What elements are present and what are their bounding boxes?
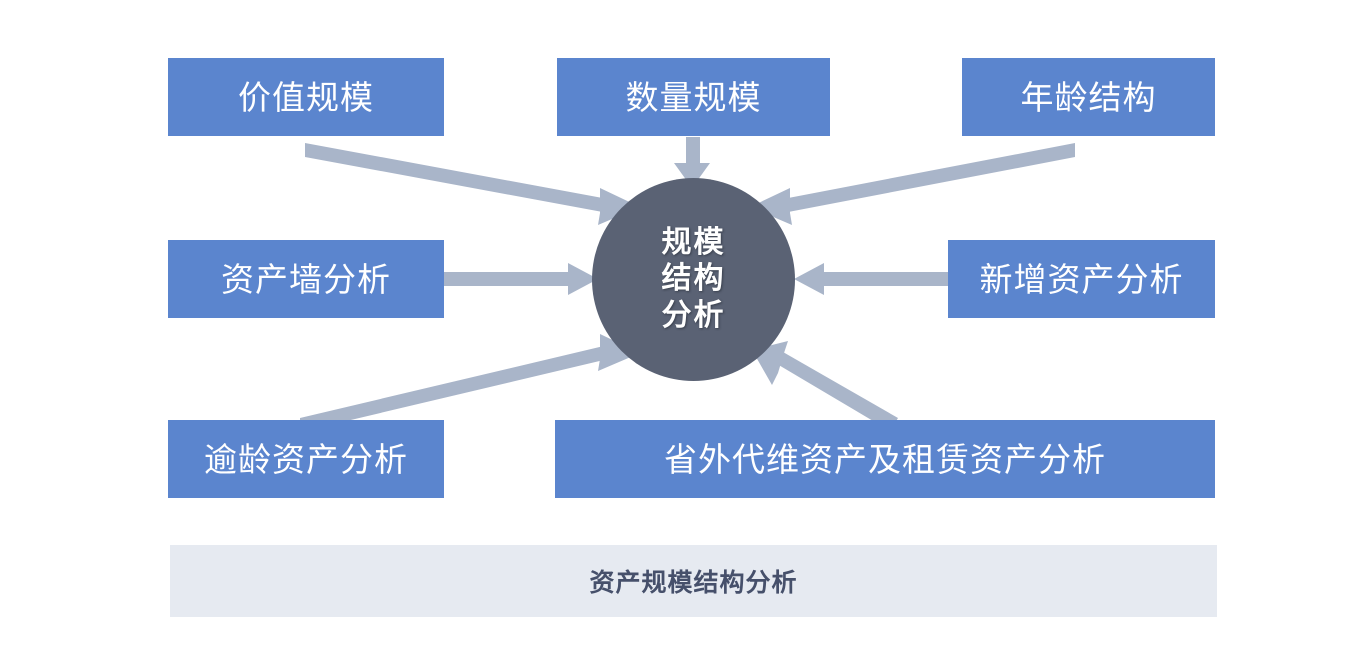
node-box-age-structure[interactable]: 年龄结构 [962, 58, 1215, 136]
node-label-value-scale: 价值规模 [238, 81, 374, 114]
node-box-new-asset[interactable]: 新增资产分析 [948, 240, 1215, 318]
node-label-age-structure: 年龄结构 [1021, 81, 1157, 114]
node-label-outprov-lease: 省外代维资产及租赁资产分析 [664, 443, 1106, 476]
center-hub-line-1: 规模 [662, 225, 726, 262]
node-label-quantity-scale: 数量规模 [626, 81, 762, 114]
node-label-overage-asset: 逾龄资产分析 [204, 443, 408, 476]
arrow-outprov-lease-to-hub [752, 341, 898, 431]
node-label-asset-wall: 资产墙分析 [221, 263, 391, 296]
arrow-new-asset-to-hub [794, 263, 948, 295]
caption-bar: 资产规模结构分析 [170, 545, 1217, 617]
diagram-canvas: 规模 结构 分析 价值规模 数量规模 年龄结构 资产墙分析 新增资产分析 逾龄资… [0, 0, 1372, 651]
node-box-quantity-scale[interactable]: 数量规模 [557, 58, 830, 136]
center-hub-line-3: 分析 [662, 298, 726, 335]
center-hub-circle[interactable]: 规模 结构 分析 [592, 178, 795, 381]
node-label-new-asset: 新增资产分析 [980, 263, 1184, 296]
node-box-asset-wall[interactable]: 资产墙分析 [168, 240, 444, 318]
arrow-value-scale-to-hub [305, 143, 640, 225]
arrow-overage-asset-to-hub [300, 334, 640, 432]
center-hub-line-2: 结构 [662, 261, 726, 298]
caption-label: 资产规模结构分析 [589, 563, 797, 599]
node-box-outprov-lease[interactable]: 省外代维资产及租赁资产分析 [555, 420, 1215, 498]
node-box-value-scale[interactable]: 价值规模 [168, 58, 444, 136]
arrow-age-structure-to-hub [750, 143, 1075, 225]
arrow-asset-wall-to-hub [444, 263, 598, 295]
node-box-overage-asset[interactable]: 逾龄资产分析 [168, 420, 444, 498]
